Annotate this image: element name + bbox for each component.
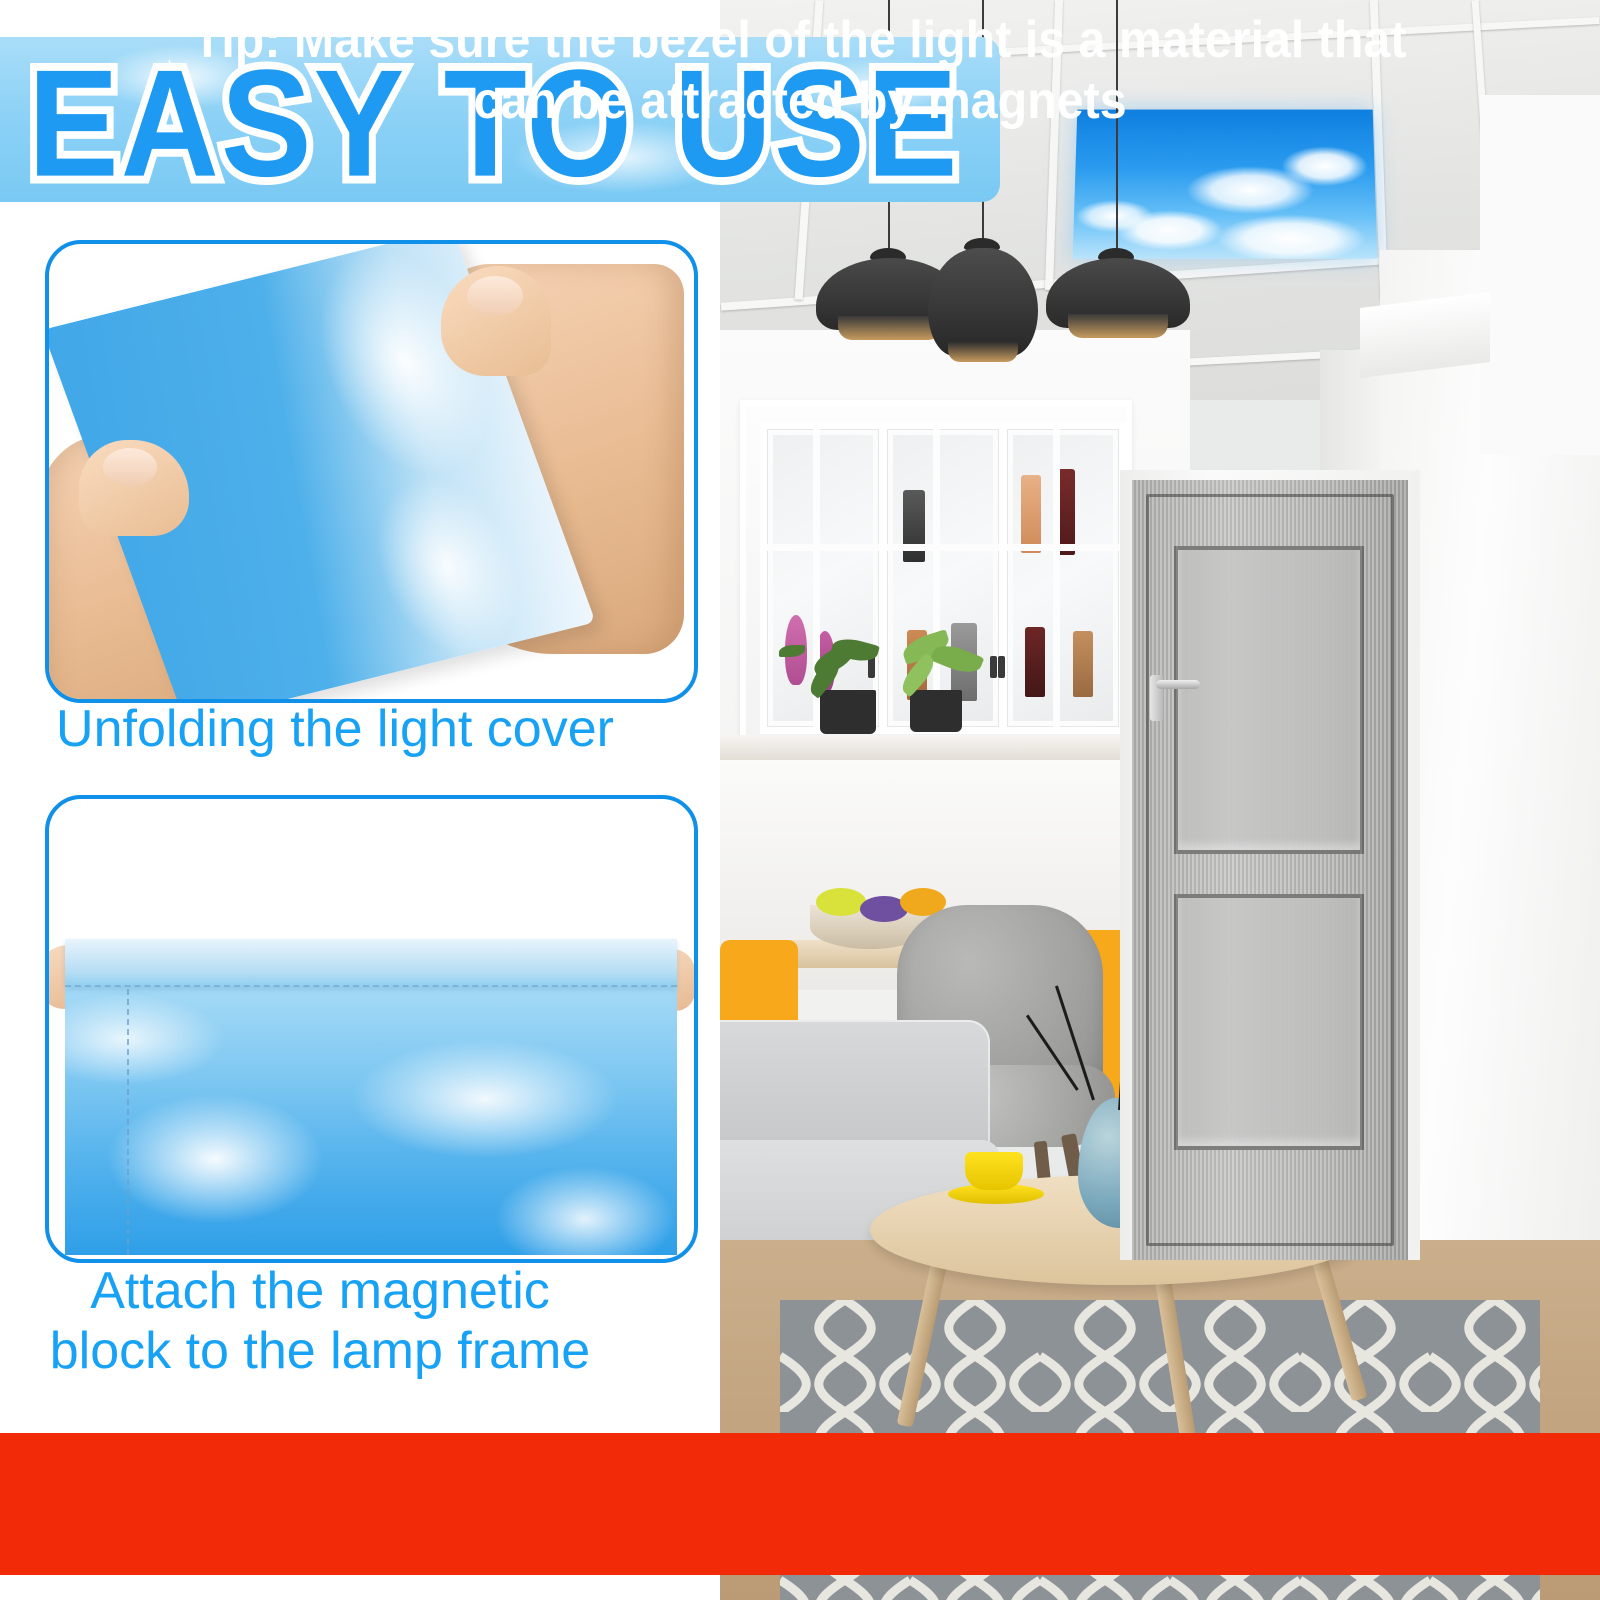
hem-stitching-vertical: [127, 989, 129, 1255]
product-infographic: Unfolding the light cover Attach the mag…: [0, 0, 1600, 1600]
step-1-photo-card: [45, 240, 698, 703]
tip-line-2: can be attracted by magnets: [473, 71, 1126, 132]
step-1-caption: Unfolding the light cover: [0, 700, 695, 760]
step-2-photo-card: [45, 795, 698, 1263]
door-handle[interactable]: [1156, 680, 1200, 689]
right-wall-upper: [1480, 95, 1600, 455]
fabric-hem: [65, 939, 677, 987]
room-photo: [720, 0, 1600, 1600]
entry-door[interactable]: [1132, 480, 1408, 1260]
hem-stitching-horizontal: [65, 985, 677, 987]
step-2-caption-line-1: Attach the magnetic: [0, 1262, 680, 1322]
step-2-caption-line-2: block to the lamp frame: [0, 1322, 680, 1382]
tip-line-1: Tip: Make sure the bezel of the light is…: [193, 10, 1407, 71]
unfolded-sky-fabric: [65, 979, 677, 1255]
step-2-caption: Attach the magnetic block to the lamp fr…: [0, 1262, 680, 1382]
tip-banner: [0, 1433, 1600, 1575]
right-thumb: [441, 266, 551, 376]
yellow-cup: [965, 1152, 1023, 1190]
tip-text: Tip: Make sure the bezel of the light is…: [0, 0, 1600, 142]
